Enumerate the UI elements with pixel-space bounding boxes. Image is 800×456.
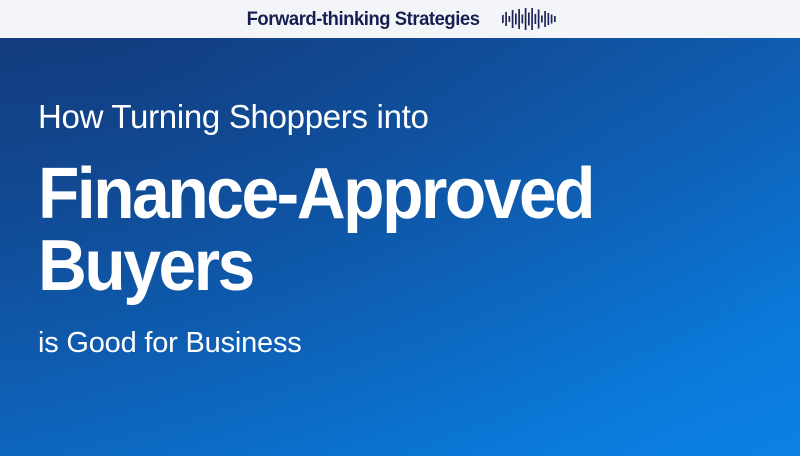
headline-block: How Turning Shoppers into Finance-Approv… — [38, 100, 778, 358]
headline-eyebrow: How Turning Shoppers into — [38, 100, 778, 135]
headline-tail: is Good for Business — [38, 328, 778, 358]
header-bar: Forward-thinking Strategies — [0, 0, 800, 38]
audio-waveform-icon — [501, 8, 557, 30]
hero-panel: How Turning Shoppers into Finance-Approv… — [0, 38, 800, 456]
headline-emphasis-line-1: Finance-Approved — [38, 159, 734, 230]
headline-emphasis-line-2: Buyers — [38, 231, 734, 302]
header-title: Forward-thinking Strategies — [247, 10, 480, 29]
presentation-slide: Forward-thinking Strategies How Turning … — [0, 0, 800, 456]
